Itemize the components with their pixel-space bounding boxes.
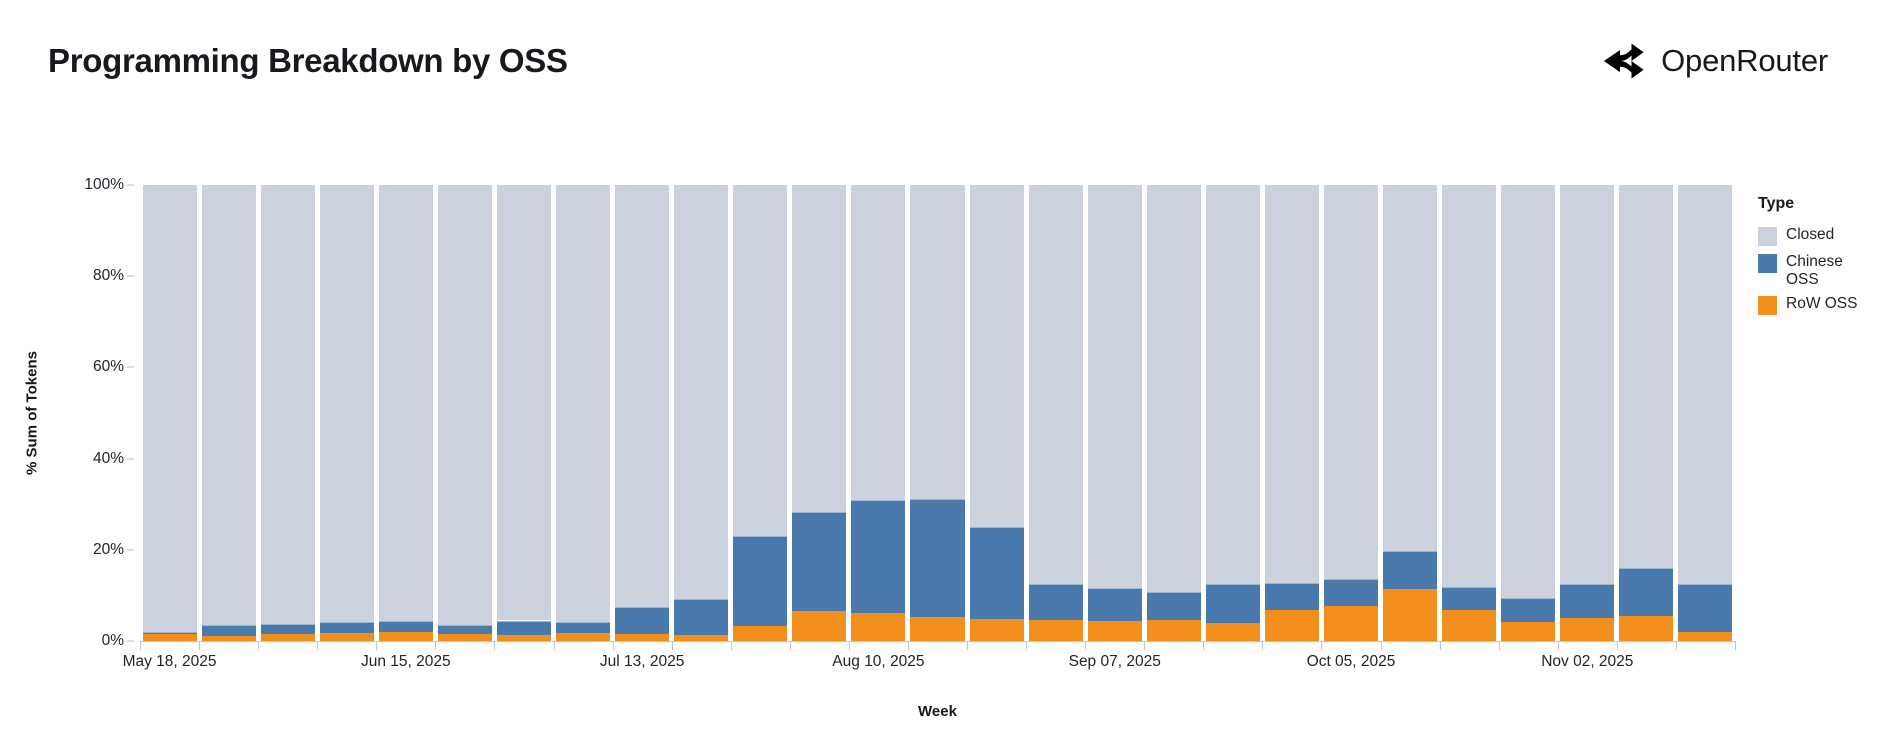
bar-column[interactable] xyxy=(1265,185,1319,641)
x-axis-tick-mark xyxy=(1203,641,1204,650)
bar-column[interactable] xyxy=(1442,185,1496,641)
bar-segment[interactable] xyxy=(143,632,197,634)
bar-segment[interactable] xyxy=(438,185,492,625)
bar-segment[interactable] xyxy=(261,185,315,624)
x-axis-tick-mark xyxy=(1617,641,1618,650)
bar-segment[interactable] xyxy=(1206,185,1260,584)
bar-column[interactable] xyxy=(910,185,964,641)
y-axis-tick-mark xyxy=(127,458,134,459)
legend-title: Type xyxy=(1758,195,1876,213)
y-axis-tick-mark xyxy=(127,367,134,368)
x-axis-tick-mark xyxy=(199,641,200,650)
y-axis-ticks: 0%20%40%60%80%100% xyxy=(58,185,134,641)
y-axis-tick-mark xyxy=(127,276,134,277)
bar-column[interactable] xyxy=(556,185,610,641)
bar-column[interactable] xyxy=(379,185,433,641)
bar-column[interactable] xyxy=(1147,185,1201,641)
y-axis-title: % Sum of Tokens xyxy=(24,293,41,533)
bar-segment[interactable] xyxy=(733,626,787,642)
legend-item-label: RoW OSS xyxy=(1786,295,1857,313)
bar-column[interactable] xyxy=(1560,185,1614,641)
bar-segment[interactable] xyxy=(792,185,846,511)
bar-column[interactable] xyxy=(1383,185,1437,641)
bar-segment[interactable] xyxy=(1206,584,1260,623)
legend-item[interactable]: Chinese OSS xyxy=(1758,253,1876,288)
bar-segment[interactable] xyxy=(1678,185,1732,584)
bar-segment[interactable] xyxy=(1088,185,1142,588)
x-axis-tick-mark xyxy=(1558,641,1559,650)
x-axis-tick-label: Oct 05, 2025 xyxy=(1307,653,1396,671)
bar-segment[interactable] xyxy=(1560,584,1614,618)
x-axis-tick-mark xyxy=(1440,641,1441,650)
bar-column[interactable] xyxy=(1501,185,1555,641)
bar-segment[interactable] xyxy=(1147,620,1201,641)
bar-segment[interactable] xyxy=(261,634,315,641)
bar-segment[interactable] xyxy=(497,185,551,620)
bar-column[interactable] xyxy=(674,185,728,641)
bar-segment[interactable] xyxy=(438,625,492,634)
bar-segment[interactable] xyxy=(1029,620,1083,641)
plot-area xyxy=(140,185,1735,641)
bar-segment[interactable] xyxy=(1029,185,1083,584)
x-axis-tick-mark xyxy=(849,641,850,650)
bar-column[interactable] xyxy=(615,185,669,641)
x-axis-tick-mark xyxy=(731,641,732,650)
x-axis-title: Week xyxy=(140,703,1735,720)
bar-segment[interactable] xyxy=(320,633,374,641)
x-axis-tick-mark xyxy=(376,641,377,650)
x-axis-tick-mark xyxy=(1085,641,1086,650)
bar-segment[interactable] xyxy=(1265,185,1319,583)
y-axis-tick-mark xyxy=(127,549,134,550)
x-axis-tick-mark xyxy=(494,641,495,650)
bar-segment[interactable] xyxy=(143,634,197,641)
bar-segment[interactable] xyxy=(1501,598,1555,622)
x-axis-tick-label: Nov 02, 2025 xyxy=(1541,653,1633,671)
bar-column[interactable] xyxy=(1088,185,1142,641)
legend-item[interactable]: RoW OSS xyxy=(1758,295,1876,315)
bar-column[interactable] xyxy=(1324,185,1378,641)
legend-swatch xyxy=(1758,296,1777,315)
bar-segment[interactable] xyxy=(851,500,905,613)
bar-segment[interactable] xyxy=(320,622,374,633)
bar-segment[interactable] xyxy=(556,622,610,633)
bar-segment[interactable] xyxy=(615,185,669,607)
bar-segment[interactable] xyxy=(851,613,905,641)
bar-segment[interactable] xyxy=(1442,185,1496,587)
legend-swatch xyxy=(1758,254,1777,273)
bar-segment[interactable] xyxy=(1619,185,1673,568)
bar-segment[interactable] xyxy=(556,185,610,622)
y-axis-tick-label: 60% xyxy=(93,358,124,376)
bar-segment[interactable] xyxy=(1560,185,1614,584)
bar-column[interactable] xyxy=(792,185,846,641)
bar-column[interactable] xyxy=(1206,185,1260,641)
bar-column[interactable] xyxy=(851,185,905,641)
x-axis-tick-mark xyxy=(258,641,259,650)
bar-column[interactable] xyxy=(438,185,492,641)
bar-segment[interactable] xyxy=(1324,606,1378,641)
x-axis-tick-mark xyxy=(1735,641,1736,650)
x-axis-tick-mark xyxy=(908,641,909,650)
bar-segment[interactable] xyxy=(851,185,905,500)
legend: Type ClosedChinese OSSRoW OSS xyxy=(1758,195,1876,322)
bar-column[interactable] xyxy=(1619,185,1673,641)
bar-segment[interactable] xyxy=(910,499,964,617)
bar-segment[interactable] xyxy=(615,634,669,641)
bar-segment[interactable] xyxy=(143,185,197,632)
bar-column[interactable] xyxy=(970,185,1024,641)
x-axis-tick-mark xyxy=(317,641,318,650)
legend-item-label: Closed xyxy=(1786,226,1834,244)
bar-column[interactable] xyxy=(733,185,787,641)
y-axis-tick-mark xyxy=(127,641,134,642)
bar-segment[interactable] xyxy=(910,617,964,641)
bar-segment[interactable] xyxy=(1147,185,1201,592)
x-axis-labels: May 18, 2025Jun 15, 2025Jul 13, 2025Aug … xyxy=(140,653,1735,679)
bar-segment[interactable] xyxy=(1678,632,1732,641)
bar-segment[interactable] xyxy=(1206,623,1260,641)
bar-segment[interactable] xyxy=(1560,618,1614,641)
bar-segment[interactable] xyxy=(792,611,846,641)
x-axis-tick-label: Jul 13, 2025 xyxy=(600,653,684,671)
bar-segment[interactable] xyxy=(1088,621,1142,641)
y-axis-tick-label: 0% xyxy=(102,632,124,650)
bar-segment[interactable] xyxy=(438,634,492,641)
bar-segment[interactable] xyxy=(674,599,728,635)
bar-segment[interactable] xyxy=(792,512,846,611)
bar-segment[interactable] xyxy=(379,632,433,641)
bar-segment[interactable] xyxy=(970,527,1024,619)
x-axis-tick-mark xyxy=(1499,641,1500,650)
x-axis-tick-label: Sep 07, 2025 xyxy=(1069,653,1161,671)
x-axis-tick-mark xyxy=(790,641,791,650)
bar-segment[interactable] xyxy=(320,185,374,622)
bar-segment[interactable] xyxy=(379,621,433,632)
bar-segment[interactable] xyxy=(556,633,610,641)
x-axis-tick-mark xyxy=(1144,641,1145,650)
legend-item[interactable]: Closed xyxy=(1758,226,1876,246)
x-axis-tick-mark xyxy=(554,641,555,650)
bar-segment[interactable] xyxy=(1324,579,1378,606)
bar-segment[interactable] xyxy=(1619,568,1673,616)
bar-segment[interactable] xyxy=(733,185,787,536)
bar-column[interactable] xyxy=(1678,185,1732,641)
bar-segment[interactable] xyxy=(1678,584,1732,632)
chart-root: Programming Breakdown by OSS OpenRouter … xyxy=(0,0,1880,734)
y-axis-tick-label: 20% xyxy=(93,541,124,559)
x-axis-tick-mark xyxy=(140,641,141,650)
y-axis-tick-mark xyxy=(127,185,134,186)
plot-wrapper: % Sum of Tokens 0%20%40%60%80%100% May 1… xyxy=(0,0,1880,734)
bar-segment[interactable] xyxy=(1088,588,1142,621)
x-axis-tick-mark xyxy=(967,641,968,650)
bar-column[interactable] xyxy=(497,185,551,641)
bar-segment[interactable] xyxy=(1147,592,1201,620)
bar-segment[interactable] xyxy=(261,624,315,634)
bar-segment[interactable] xyxy=(1619,616,1673,641)
bar-column[interactable] xyxy=(320,185,374,641)
bar-segment[interactable] xyxy=(970,185,1024,527)
bar-segment[interactable] xyxy=(970,619,1024,641)
bar-segment[interactable] xyxy=(497,621,551,636)
x-axis-tick-mark xyxy=(1321,641,1322,650)
bar-segment[interactable] xyxy=(1383,589,1437,641)
bar-segment[interactable] xyxy=(202,185,256,625)
x-axis-tick-mark xyxy=(435,641,436,650)
legend-items: ClosedChinese OSSRoW OSS xyxy=(1758,226,1876,315)
x-axis-tick-label: Jun 15, 2025 xyxy=(361,653,451,671)
bar-column[interactable] xyxy=(143,185,197,641)
bar-segment[interactable] xyxy=(615,607,669,634)
y-axis-tick-label: 100% xyxy=(84,176,124,194)
bar-column[interactable] xyxy=(261,185,315,641)
bar-segment[interactable] xyxy=(1383,185,1437,551)
bar-segment[interactable] xyxy=(674,185,728,599)
bar-segment[interactable] xyxy=(910,185,964,499)
x-axis-tick-mark xyxy=(1381,641,1382,650)
x-axis-tick-mark xyxy=(1676,641,1677,650)
x-axis-tick-mark xyxy=(672,641,673,650)
bar-segment[interactable] xyxy=(202,625,256,636)
x-axis-tick-mark xyxy=(613,641,614,650)
bar-segment[interactable] xyxy=(1029,584,1083,620)
bar-segment[interactable] xyxy=(733,536,787,625)
bar-segment[interactable] xyxy=(379,185,433,621)
x-axis-tick-mark xyxy=(1262,641,1263,650)
x-axis-tick-label: Aug 10, 2025 xyxy=(832,653,924,671)
bar-segment[interactable] xyxy=(1501,622,1555,641)
bar-column[interactable] xyxy=(202,185,256,641)
bar-segment[interactable] xyxy=(1383,551,1437,588)
bar-segment[interactable] xyxy=(1501,185,1555,598)
x-axis-tick-label: May 18, 2025 xyxy=(123,653,217,671)
bar-column[interactable] xyxy=(1029,185,1083,641)
legend-item-label: Chinese OSS xyxy=(1786,253,1876,288)
bar-segment[interactable] xyxy=(1265,610,1319,641)
y-axis-tick-label: 40% xyxy=(93,450,124,468)
bar-segment[interactable] xyxy=(1442,610,1496,641)
bar-segment[interactable] xyxy=(1265,583,1319,610)
legend-swatch xyxy=(1758,227,1777,246)
bar-segment[interactable] xyxy=(1442,587,1496,611)
y-axis-tick-label: 80% xyxy=(93,267,124,285)
x-axis-tick-mark xyxy=(1026,641,1027,650)
bar-segment[interactable] xyxy=(1324,185,1378,579)
